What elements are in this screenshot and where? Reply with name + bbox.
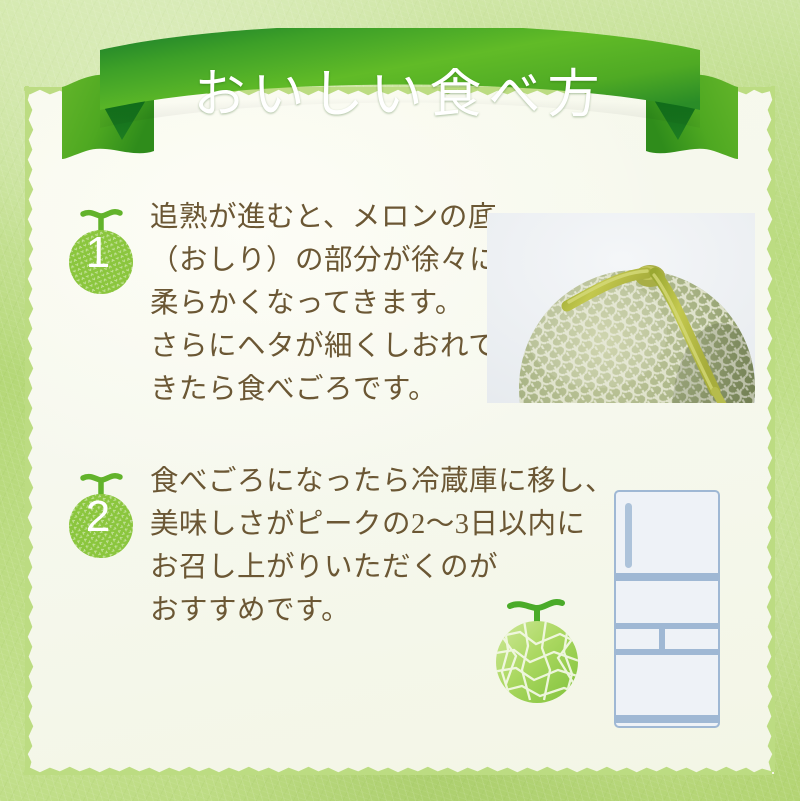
step-2-line-2: 美味しさがピークの2〜3日以内に [150,503,614,546]
panel-edge-bottom [24,764,772,775]
melon-illustration: ネット模様のメロンのイラスト [476,592,598,704]
step-2-line-1: 食べごろになったら冷蔵庫に移し、 [150,460,614,503]
step-number-1: 1 [62,222,134,284]
page-root: おいしい食べ方 1 追熟が進むと、メロンの底 （おしり）の部分が徐々に 柔らかく… [0,0,800,801]
step-number-2: 2 [62,486,134,548]
step-1-line-2: （おしり）の部分が徐々に [150,239,498,282]
panel-edge-left [25,86,36,772]
page-title: おいしい食べ方 [0,52,800,127]
step-2-line-3: お召し上がりいただくのが [150,546,614,589]
melon-stem-photo: ネット模様のメロンとT字のヘタの写真 [487,213,755,403]
refrigerator-illustration: 3ドア冷蔵庫のイラスト [607,487,732,735]
step-1-line-5: きたら食べごろです。 [150,368,498,411]
step-1-line-1: 追熟が進むと、メロンの底 [150,196,498,239]
step-text-1: 追熟が進むと、メロンの底 （おしり）の部分が徐々に 柔らかくなってきます。 さら… [150,196,498,411]
panel-edge-right [764,86,775,772]
step-1-line-3: 柔らかくなってきます。 [150,282,498,325]
title-banner: おいしい食べ方 [0,28,800,163]
step-1-line-4: さらにヘタが細くしおれて [150,325,498,368]
